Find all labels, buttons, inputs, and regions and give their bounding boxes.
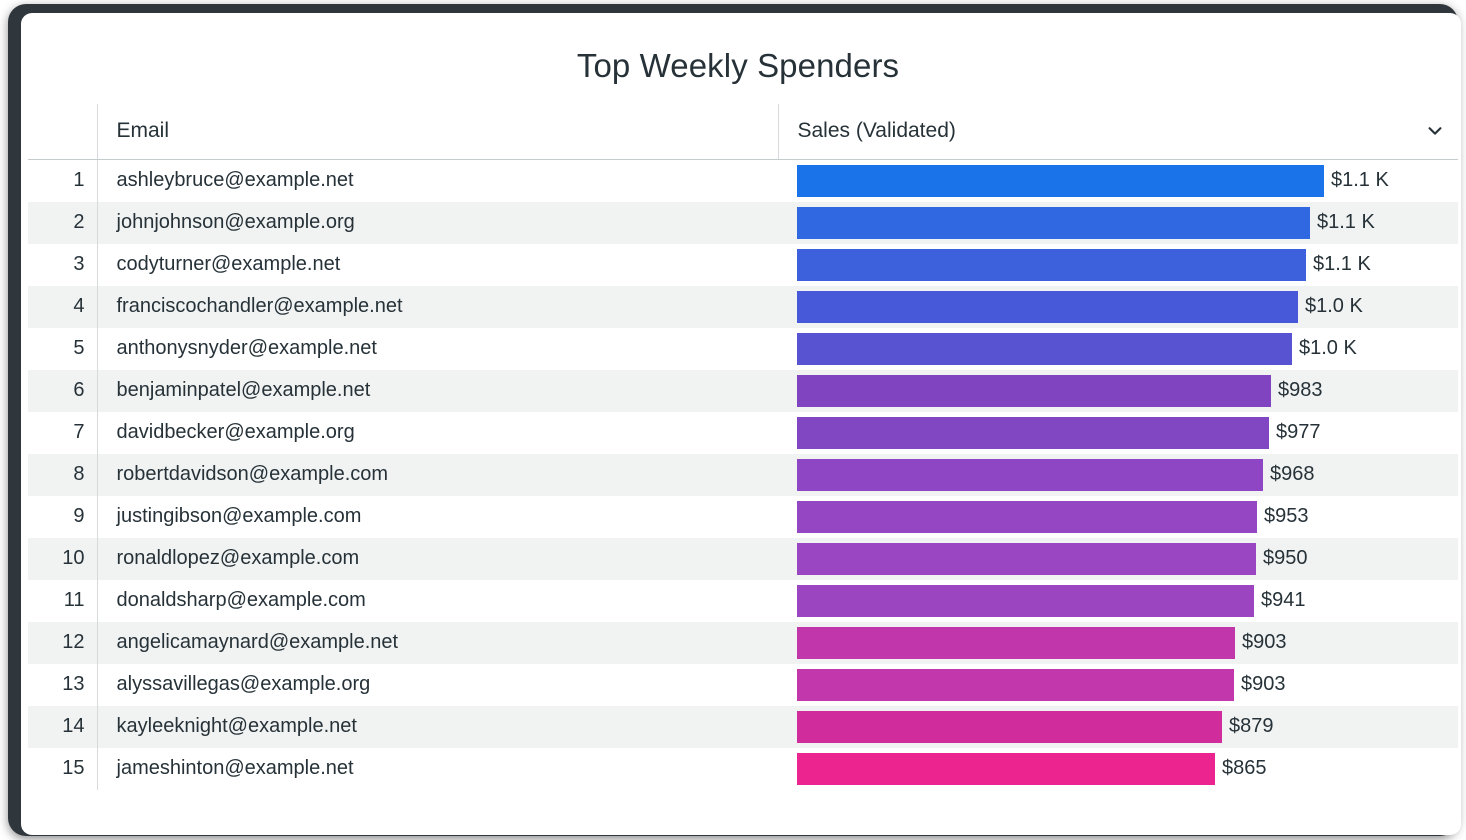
sales-bar xyxy=(797,375,1271,407)
sales-bar xyxy=(797,585,1254,617)
sales-bar-label: $879 xyxy=(1222,715,1274,738)
sales-bar xyxy=(797,291,1298,323)
table-row[interactable]: 14kayleeknight@example.net$879 xyxy=(28,706,1458,748)
row-number: 4 xyxy=(28,286,97,328)
table-row[interactable]: 8robertdavidson@example.com$968 xyxy=(28,454,1458,496)
row-number: 15 xyxy=(28,748,97,790)
row-number: 12 xyxy=(28,622,97,664)
table-row[interactable]: 10ronaldlopez@example.com$950 xyxy=(28,538,1458,580)
bar-cell: $1.0 K xyxy=(778,286,1458,328)
bar-cell: $1.1 K xyxy=(778,244,1458,286)
row-number: 13 xyxy=(28,664,97,706)
row-number: 8 xyxy=(28,454,97,496)
sales-bar-label: $1.1 K xyxy=(1306,253,1371,276)
sales-bar xyxy=(797,333,1292,365)
column-header-sales[interactable]: Sales (Validated) xyxy=(778,104,1458,159)
row-number: 11 xyxy=(28,580,97,622)
cell-sales: $950 xyxy=(778,538,1458,580)
bar-cell: $983 xyxy=(778,370,1458,412)
column-header-rownum[interactable] xyxy=(28,104,97,159)
cell-email: franciscochandler@example.net xyxy=(97,286,778,328)
table-row[interactable]: 11donaldsharp@example.com$941 xyxy=(28,580,1458,622)
bar-cell: $941 xyxy=(778,580,1458,622)
table-body: 1ashleybruce@example.net$1.1 K2johnjohns… xyxy=(28,159,1458,790)
bar-cell: $1.1 K xyxy=(778,202,1458,244)
table-row[interactable]: 13alyssavillegas@example.org$903 xyxy=(28,664,1458,706)
row-number: 5 xyxy=(28,328,97,370)
cell-email: benjaminpatel@example.net xyxy=(97,370,778,412)
bar-cell: $879 xyxy=(778,706,1458,748)
cell-sales: $903 xyxy=(778,622,1458,664)
sales-bar xyxy=(797,627,1235,659)
row-number: 1 xyxy=(28,159,97,202)
bar-cell: $903 xyxy=(778,622,1458,664)
bar-cell: $865 xyxy=(778,748,1458,790)
cell-sales: $968 xyxy=(778,454,1458,496)
row-number: 2 xyxy=(28,202,97,244)
sales-bar-label: $1.1 K xyxy=(1310,211,1375,234)
table-row[interactable]: 3codyturner@example.net$1.1 K xyxy=(28,244,1458,286)
sales-bar-label: $1.1 K xyxy=(1324,169,1389,192)
cell-sales: $953 xyxy=(778,496,1458,538)
sales-bar-label: $953 xyxy=(1257,505,1309,528)
table-row[interactable]: 12angelicamaynard@example.net$903 xyxy=(28,622,1458,664)
table-row[interactable]: 7davidbecker@example.org$977 xyxy=(28,412,1458,454)
cell-sales: $941 xyxy=(778,580,1458,622)
cell-sales: $977 xyxy=(778,412,1458,454)
window-panel: Top Weekly Spenders Email Sales (Validat… xyxy=(21,13,1461,835)
bar-cell: $953 xyxy=(778,496,1458,538)
cell-email: kayleeknight@example.net xyxy=(97,706,778,748)
sales-bar-label: $903 xyxy=(1235,631,1287,654)
row-number: 3 xyxy=(28,244,97,286)
cell-email: donaldsharp@example.com xyxy=(97,580,778,622)
sales-bar xyxy=(797,753,1215,785)
column-header-email[interactable]: Email xyxy=(97,104,778,159)
sales-bar-label: $968 xyxy=(1263,463,1315,486)
cell-email: jameshinton@example.net xyxy=(97,748,778,790)
bar-cell: $903 xyxy=(778,664,1458,706)
column-header-sales-label: Sales (Validated) xyxy=(798,119,956,142)
bar-cell: $1.1 K xyxy=(778,160,1458,202)
cell-email: codyturner@example.net xyxy=(97,244,778,286)
cell-sales: $983 xyxy=(778,370,1458,412)
cell-email: alyssavillegas@example.org xyxy=(97,664,778,706)
cell-sales: $1.0 K xyxy=(778,328,1458,370)
sales-bar-label: $1.0 K xyxy=(1298,295,1363,318)
table-row[interactable]: 1ashleybruce@example.net$1.1 K xyxy=(28,159,1458,202)
cell-sales: $1.1 K xyxy=(778,159,1458,202)
table-header: Email Sales (Validated) xyxy=(28,104,1458,159)
cell-sales: $1.0 K xyxy=(778,286,1458,328)
chevron-down-icon[interactable] xyxy=(1420,116,1450,146)
cell-email: justingibson@example.com xyxy=(97,496,778,538)
cell-sales: $1.1 K xyxy=(778,244,1458,286)
table-row[interactable]: 4franciscochandler@example.net$1.0 K xyxy=(28,286,1458,328)
page-title: Top Weekly Spenders xyxy=(21,47,1455,85)
row-number: 10 xyxy=(28,538,97,580)
cell-sales: $903 xyxy=(778,664,1458,706)
sales-bar xyxy=(797,543,1256,575)
row-number: 6 xyxy=(28,370,97,412)
cell-email: davidbecker@example.org xyxy=(97,412,778,454)
sales-bar xyxy=(797,417,1269,449)
sales-bar-label: $941 xyxy=(1254,589,1306,612)
table-row[interactable]: 15jameshinton@example.net$865 xyxy=(28,748,1458,790)
row-number: 14 xyxy=(28,706,97,748)
cell-email: anthonysnyder@example.net xyxy=(97,328,778,370)
bar-cell: $968 xyxy=(778,454,1458,496)
table-row[interactable]: 9justingibson@example.com$953 xyxy=(28,496,1458,538)
sales-bar-label: $865 xyxy=(1215,757,1267,780)
sales-bar xyxy=(797,711,1222,743)
cell-email: robertdavidson@example.com xyxy=(97,454,778,496)
sales-bar xyxy=(797,249,1306,281)
cell-sales: $1.1 K xyxy=(778,202,1458,244)
table-row[interactable]: 5anthonysnyder@example.net$1.0 K xyxy=(28,328,1458,370)
bar-cell: $1.0 K xyxy=(778,328,1458,370)
sales-bar-label: $903 xyxy=(1234,673,1286,696)
row-number: 7 xyxy=(28,412,97,454)
sales-bar xyxy=(797,459,1263,491)
table-row[interactable]: 6benjaminpatel@example.net$983 xyxy=(28,370,1458,412)
sales-bar-label: $950 xyxy=(1256,547,1308,570)
window-frame: Top Weekly Spenders Email Sales (Validat… xyxy=(8,4,1458,836)
cell-sales: $865 xyxy=(778,748,1458,790)
cell-email: angelicamaynard@example.net xyxy=(97,622,778,664)
sales-bar xyxy=(797,207,1310,239)
cell-email: ronaldlopez@example.com xyxy=(97,538,778,580)
sales-bar-label: $1.0 K xyxy=(1292,337,1357,360)
cell-sales: $879 xyxy=(778,706,1458,748)
bar-cell: $977 xyxy=(778,412,1458,454)
sales-bar xyxy=(797,501,1257,533)
cell-email: ashleybruce@example.net xyxy=(97,159,778,202)
sales-bar-label: $977 xyxy=(1269,421,1321,444)
table-header-row: Email Sales (Validated) xyxy=(28,104,1458,159)
table-row[interactable]: 2johnjohnson@example.org$1.1 K xyxy=(28,202,1458,244)
sales-bar xyxy=(797,165,1324,197)
sales-bar xyxy=(797,669,1234,701)
bar-cell: $950 xyxy=(778,538,1458,580)
cell-email: johnjohnson@example.org xyxy=(97,202,778,244)
spenders-table: Email Sales (Validated) 1ashleybruce@exa… xyxy=(28,104,1458,790)
sales-bar-label: $983 xyxy=(1271,379,1323,402)
row-number: 9 xyxy=(28,496,97,538)
